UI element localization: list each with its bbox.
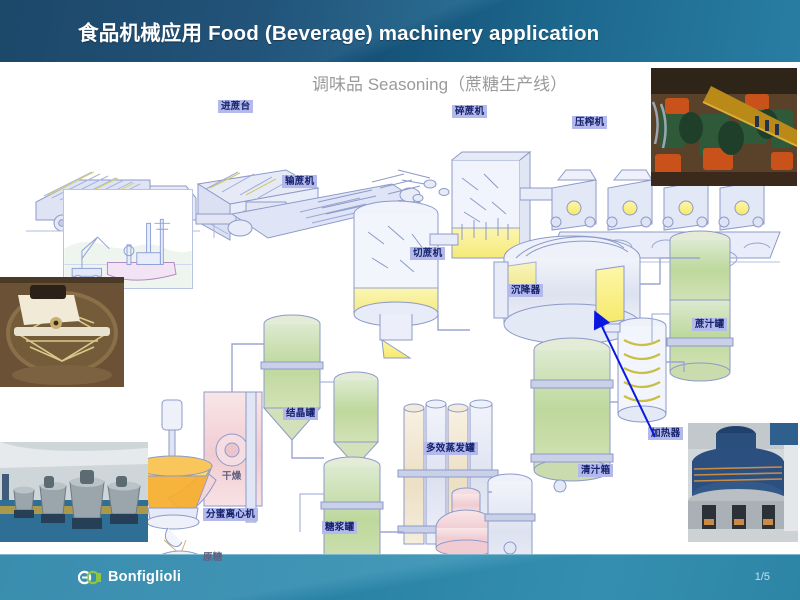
label-cane-mill: 压榨机 [572, 116, 607, 129]
label-dryer: 干燥 [219, 470, 245, 483]
cooling-tower-photo [688, 423, 798, 542]
slide: 食品机械应用 Food (Beverage) machinery applica… [0, 0, 800, 600]
label-heater: 加热器 [648, 427, 683, 440]
factory-mill-photo-content [651, 68, 797, 186]
syrup-tank-drawing [300, 457, 383, 554]
label-raw-sugar: 原糖 [200, 551, 226, 564]
centrifuge-row-photo-content [0, 434, 148, 542]
brand-logo: Bonfiglioli [78, 569, 181, 585]
page-number: 1/5 [755, 571, 770, 583]
honey-extractor-photo [0, 277, 124, 387]
label-clarifier-settler: 沉降器 [508, 284, 543, 297]
ship-crane-inset [63, 189, 193, 289]
factory-mill-photo [651, 68, 797, 186]
brand-name: Bonfiglioli [108, 569, 181, 585]
footer-divider [0, 554, 800, 555]
cane-cutter-drawing [354, 201, 438, 358]
label-honey-centrifuge: 分蜜离心机 [203, 508, 258, 521]
label-syrup-tank: 糖浆罐 [322, 521, 357, 534]
multi-effect-evaporator-drawing [398, 400, 535, 554]
centrifuge-row-photo [0, 434, 148, 542]
slide-header: 食品机械应用 Food (Beverage) machinery applica… [0, 0, 800, 62]
header-title: 食品机械应用 Food (Beverage) machinery applica… [78, 16, 599, 46]
crystallizer-drawing [261, 315, 378, 466]
label-cane-feed-table: 进蔗台 [218, 100, 253, 113]
honey-extractor-photo-content [0, 277, 124, 387]
ship-crane-drawing [64, 190, 192, 288]
slide-footer: Bonfiglioli 1/5 [0, 554, 800, 600]
label-crystallizer: 结晶罐 [283, 407, 318, 420]
label-cane-shredder: 碎蔗机 [452, 105, 487, 118]
bonfiglioli-logo-icon [78, 570, 102, 585]
label-juice-tank: 蔗汁罐 [692, 318, 727, 331]
slide-body: 调味品 Seasoning（蔗糖生产线） [0, 62, 800, 554]
label-multi-effect-evaporator: 多效蒸发罐 [423, 442, 478, 455]
label-cane-cutter: 切蔗机 [410, 247, 445, 260]
label-clear-juice-box: 清汁箱 [578, 464, 613, 477]
label-cane-conveyor: 输蔗机 [282, 175, 317, 188]
cooling-tower-photo-content [688, 423, 798, 542]
